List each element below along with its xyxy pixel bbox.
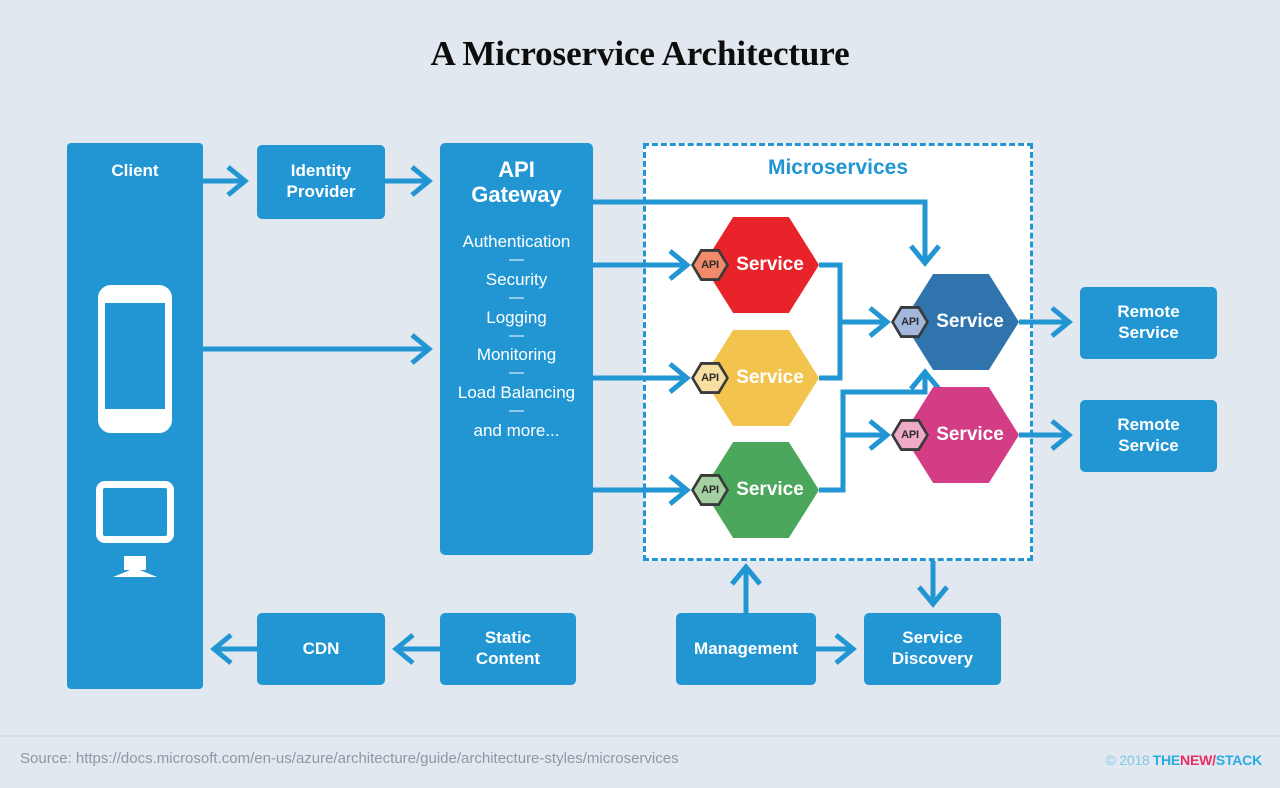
separator: — [458, 365, 575, 382]
api-gateway-feature: Load Balancing [458, 382, 575, 403]
monitor-base [113, 568, 157, 577]
management-box[interactable]: Management [676, 613, 816, 685]
footer-divider [0, 735, 1280, 737]
api-gateway-feature: Logging [458, 307, 575, 328]
static-content-line1: Static [476, 628, 540, 649]
api-badge-label: API [901, 429, 919, 441]
cdn-box[interactable]: CDN [257, 613, 385, 685]
diagram-canvas: A Microservice Architecture Microservice… [0, 0, 1280, 788]
service-label: Service [736, 479, 804, 501]
source-attribution: Source: https://docs.microsoft.com/en-us… [20, 750, 679, 767]
separator: — [458, 290, 575, 307]
service-label: Service [736, 367, 804, 389]
api-gateway-feature: and more... [458, 420, 575, 441]
separator: — [458, 252, 575, 269]
remote-service-line2: Service [1117, 323, 1179, 344]
phone-top-bar [105, 292, 165, 303]
copyright-label: © 2018 [1105, 752, 1149, 768]
cdn-label: CDN [303, 639, 340, 660]
api-badge-icon: API [891, 418, 929, 452]
api-badge-icon: API [691, 361, 729, 395]
client-label: Client [111, 161, 158, 182]
brand-the: THE [1153, 752, 1180, 768]
phone-icon [98, 285, 172, 433]
service-discovery-line1: Service [892, 628, 973, 649]
remote-service-box-1[interactable]: Remote Service [1080, 287, 1217, 359]
remote-service-line1: Remote [1117, 302, 1179, 323]
service-label: Service [936, 311, 1004, 333]
api-badge-icon: API [691, 248, 729, 282]
service-label: Service [936, 424, 1004, 446]
api-badge-icon: API [891, 305, 929, 339]
phone-bottom-bar [105, 409, 165, 426]
separator: — [458, 403, 575, 420]
api-badge-label: API [701, 484, 719, 496]
api-gateway-box[interactable]: API Gateway Authentication — Security — … [440, 143, 593, 555]
remote-service-line2: Service [1117, 436, 1179, 457]
management-label: Management [694, 639, 798, 660]
api-gateway-title-line1: API [471, 157, 562, 182]
identity-provider-line2: Provider [287, 182, 356, 203]
static-content-line2: Content [476, 649, 540, 670]
brand-logo: © 2018THENEW/STACK [1105, 752, 1262, 768]
brand-new: NEW [1180, 752, 1212, 768]
api-badge-icon: API [691, 473, 729, 507]
api-gateway-feature-list: Authentication — Security — Logging — Mo… [458, 231, 575, 441]
remote-service-line1: Remote [1117, 415, 1179, 436]
service-label: Service [736, 254, 804, 276]
identity-provider-line1: Identity [287, 161, 356, 182]
api-badge-label: API [901, 316, 919, 328]
api-gateway-feature: Security [458, 269, 575, 290]
api-badge-label: API [701, 372, 719, 384]
brand-stack: STACK [1216, 752, 1262, 768]
service-discovery-line2: Discovery [892, 649, 973, 670]
identity-provider-box[interactable]: Identity Provider [257, 145, 385, 219]
api-gateway-feature: Authentication [458, 231, 575, 252]
api-gateway-title-line2: Gateway [471, 182, 562, 207]
separator: — [458, 328, 575, 345]
api-gateway-feature: Monitoring [458, 344, 575, 365]
remote-service-box-2[interactable]: Remote Service [1080, 400, 1217, 472]
monitor-icon [96, 481, 174, 543]
service-discovery-box[interactable]: Service Discovery [864, 613, 1001, 685]
api-badge-label: API [701, 259, 719, 271]
static-content-box[interactable]: Static Content [440, 613, 576, 685]
